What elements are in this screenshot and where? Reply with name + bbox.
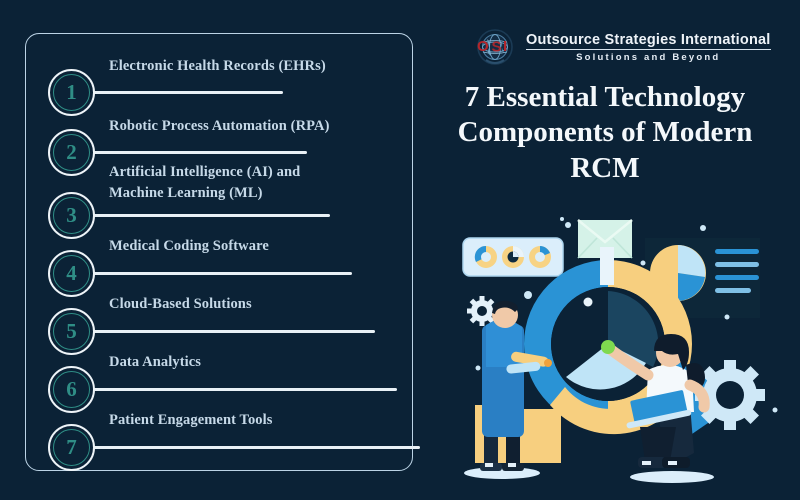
dashboard-panel-icon bbox=[463, 238, 563, 276]
numbered-list: Electronic Health Records (EHRs) 1 Robot… bbox=[25, 33, 413, 471]
list-item-rule bbox=[87, 272, 352, 275]
list-item-label: Electronic Health Records (EHRs) bbox=[109, 56, 326, 77]
list-item-number: 3 bbox=[66, 205, 77, 226]
list-item-number: 2 bbox=[66, 142, 77, 163]
list-item-rule bbox=[87, 214, 330, 217]
list-item-label: Medical Coding Software bbox=[109, 236, 269, 257]
decor-dot bbox=[560, 217, 564, 221]
list-item-label: Data Analytics bbox=[109, 352, 201, 373]
list-item-number-badge: 4 bbox=[48, 250, 95, 297]
svg-text:S: S bbox=[492, 38, 502, 55]
list-item-number: 6 bbox=[66, 379, 77, 400]
list-item-label: Patient Engagement Tools bbox=[109, 410, 273, 431]
decor-dot bbox=[584, 298, 593, 307]
decor-dot bbox=[773, 408, 778, 413]
list-item-rule bbox=[87, 330, 375, 333]
list-item-rule bbox=[87, 388, 397, 391]
globe-logo-icon: O S I bbox=[472, 27, 518, 69]
title-line-1: 7 Essential Technology bbox=[465, 81, 745, 113]
svg-text:O: O bbox=[477, 38, 489, 55]
list-item-rule bbox=[87, 446, 420, 449]
list-item-number: 5 bbox=[66, 321, 77, 342]
list-item-number: 4 bbox=[66, 263, 77, 284]
list-item-number-badge: 1 bbox=[48, 69, 95, 116]
decor-dot bbox=[476, 366, 481, 371]
brand-logo[interactable]: O S I Outsource Strategies International… bbox=[472, 25, 772, 70]
brand-text: Outsource Strategies International Solut… bbox=[526, 32, 771, 63]
decor-dot bbox=[524, 291, 532, 299]
page-title: 7 Essential Technology Components of Mod… bbox=[420, 80, 790, 186]
list-item-number: 1 bbox=[66, 82, 77, 103]
title-line-3: RCM bbox=[420, 151, 790, 186]
list-item-number-badge: 6 bbox=[48, 366, 95, 413]
svg-text:I: I bbox=[503, 38, 507, 55]
decor-dot bbox=[565, 222, 571, 228]
list-item-number-badge: 2 bbox=[48, 129, 95, 176]
list-item-number-badge: 7 bbox=[48, 424, 95, 471]
list-item-number-badge: 5 bbox=[48, 308, 95, 355]
infographic-canvas: Electronic Health Records (EHRs) 1 Robot… bbox=[0, 0, 800, 500]
list-item-rule bbox=[87, 151, 307, 154]
title-line-2: Components of Modern bbox=[458, 116, 753, 148]
list-item-number-badge: 3 bbox=[48, 192, 95, 239]
decor-dot bbox=[725, 315, 730, 320]
brand-tagline: Solutions and Beyond bbox=[526, 52, 771, 63]
list-item-number: 7 bbox=[66, 437, 77, 458]
decor-dot bbox=[700, 225, 706, 231]
decor-dot bbox=[641, 261, 646, 266]
brand-name: Outsource Strategies International bbox=[526, 32, 771, 50]
list-item-label: Robotic Process Automation (RPA) bbox=[109, 116, 330, 137]
list-item-label: Cloud-Based Solutions bbox=[109, 294, 252, 315]
rcm-technology-illustration bbox=[440, 205, 800, 500]
list-item-label: Artificial Intelligence (AI) and Machine… bbox=[109, 162, 300, 204]
list-item-rule bbox=[87, 91, 283, 94]
